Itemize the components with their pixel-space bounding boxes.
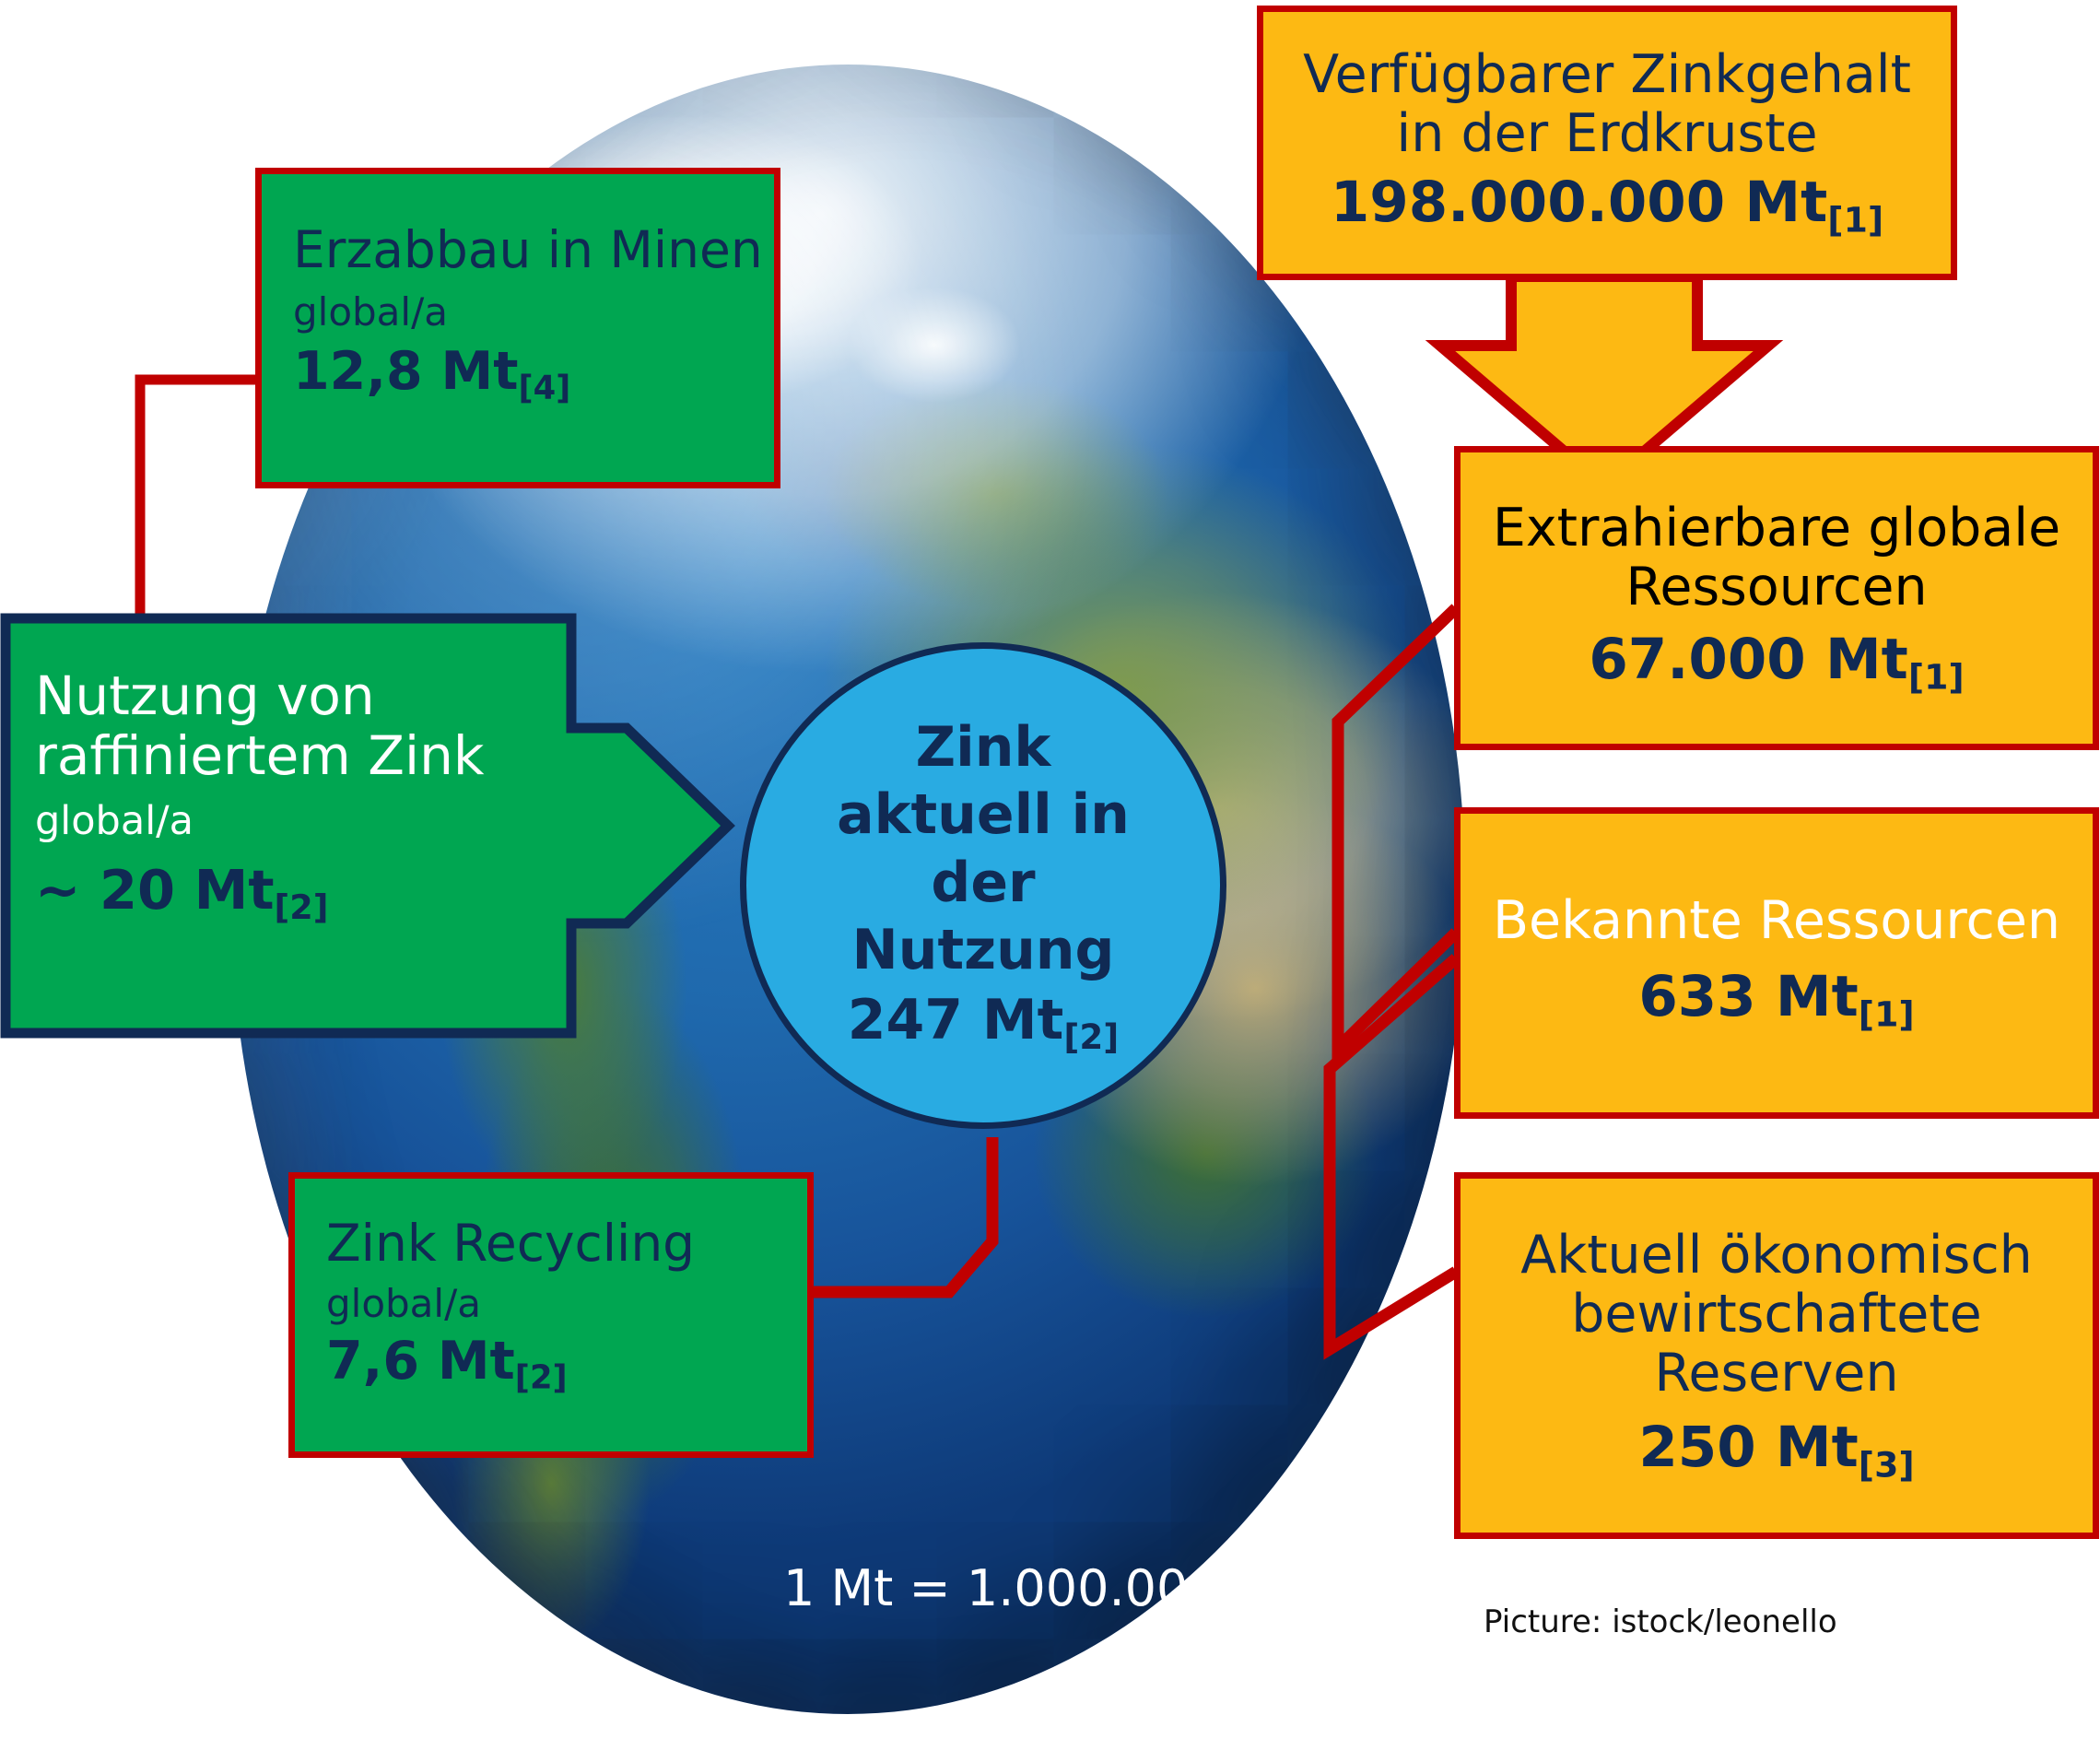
circle-value-row: 247 Mt[2] [848,990,1119,1057]
connector-known-to-reserves [1330,958,1456,1349]
box-recycling-ref: [2] [515,1358,568,1396]
box-extractable-label-line1: Extrahierbare globale [1493,499,2060,558]
box-extractable-value-row: 67.000 Mt[1] [1589,628,1964,697]
box-available-zinc-in-crust[interactable]: Verfügbarer Zinkgehalt in der Erdkruste … [1257,6,1957,280]
box-refined-value-row: ~ 20 Mt[2] [35,860,579,927]
unit-legend: 1 Mt = 1.000.000 t [783,1559,1255,1617]
box-known-value-row: 633 Mt[1] [1638,966,1914,1034]
box-recycling-sub: global/a [326,1282,481,1325]
box-mining-sub: global/a [293,290,448,334]
box-refined-sub: global/a [35,799,579,843]
box-reserves-value-row: 250 Mt[3] [1638,1416,1914,1485]
box-refined-value: ~ 20 Mt [35,858,275,922]
connector-recycling-to-circle [811,1137,992,1292]
box-reserves-value: 250 Mt [1638,1415,1858,1480]
box-mining-label: Erzabbau in Minen [293,222,763,279]
box-refined-zinc-use[interactable]: Nutzung von raffiniertem Zink global/a ~… [0,613,737,1039]
box-mining-value: 12,8 Mt [293,341,518,402]
box-mining-value-row: 12,8 Mt[4] [293,343,570,406]
box-known-ref: [1] [1859,993,1915,1034]
infographic-canvas: Verfügbarer Zinkgehalt in der Erdkruste … [0,0,2100,1762]
box-recycling-label: Zink Recycling [326,1216,695,1273]
box-zinc-recycling[interactable]: Zink Recycling global/a 7,6 Mt[2] [288,1172,814,1458]
box-reserves-label-line3: Reserven [1654,1345,1898,1404]
circle-line1: Zink [916,714,1051,781]
box-reserves-ref: [3] [1859,1444,1915,1485]
image-credit: Picture: istock/leonello [1484,1603,1837,1640]
box-crust-ref: [1] [1827,199,1883,240]
box-refined-label-line2: raffiniertem Zink [35,726,579,786]
center-circle-zinc-in-use[interactable]: Zink aktuell in der Nutzung 247 Mt[2] [740,642,1226,1129]
box-known-value: 633 Mt [1638,964,1858,1029]
box-extractable-value: 67.000 Mt [1589,627,1908,692]
box-known-resources[interactable]: Bekannte Ressourcen 633 Mt[1] [1454,807,2099,1119]
box-extractable-label-line2: Ressourcen [1625,558,1927,617]
box-crust-label-line2: in der Erdkruste [1396,105,1817,164]
circle-value: 247 Mt [848,988,1064,1052]
box-crust-value-row: 198.000.000 Mt[1] [1331,171,1883,240]
box-reserves-label-line1: Aktuell ökonomisch [1520,1227,2033,1286]
box-extractable-ref: [1] [1908,656,1965,697]
box-recycling-value: 7,6 Mt [326,1331,515,1392]
circle-ref: [2] [1063,1016,1119,1057]
box-mining-ref: [4] [518,369,570,406]
box-reserves-label-line2: bewirtschaftete [1571,1286,1981,1345]
box-recycling-value-row: 7,6 Mt[2] [326,1333,568,1396]
circle-line3: der [931,850,1035,917]
box-crust-label-line1: Verfügbarer Zinkgehalt [1303,46,1911,105]
box-extractable-global-resources[interactable]: Extrahierbare globale Ressourcen 67.000 … [1454,446,2099,750]
circle-line2: aktuell in [837,781,1130,849]
box-refined-content: Nutzung von raffiniertem Zink global/a ~… [35,666,579,927]
box-refined-ref: [2] [275,887,329,927]
circle-line4: Nutzung [852,917,1115,984]
box-refined-label-line1: Nutzung von [35,666,579,726]
box-known-label-line1: Bekannte Ressourcen [1493,892,2060,951]
box-crust-value: 198.000.000 Mt [1331,170,1827,235]
box-ore-mining[interactable]: Erzabbau in Minen global/a 12,8 Mt[4] [255,168,780,488]
box-economically-managed-reserves[interactable]: Aktuell ökonomisch bewirtschaftete Reser… [1454,1172,2099,1539]
